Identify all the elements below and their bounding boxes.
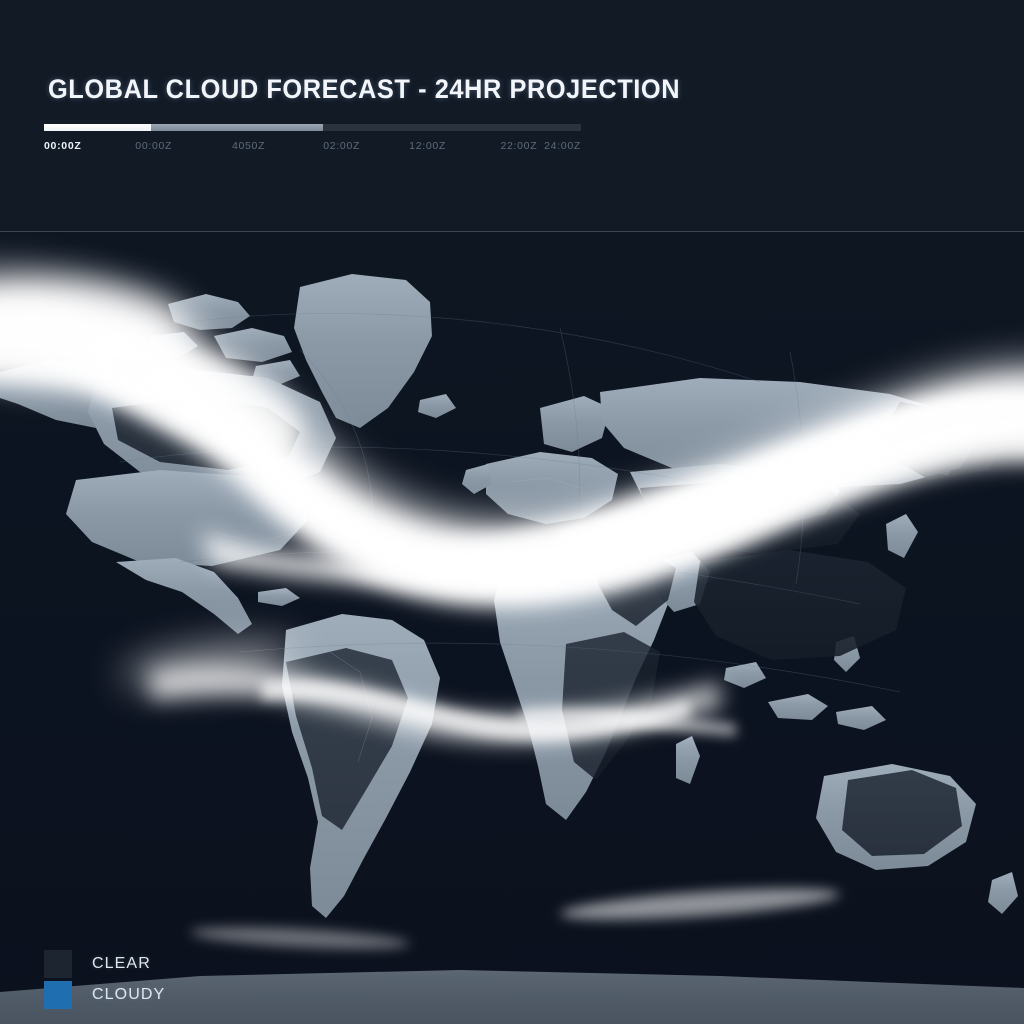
map-canvas [0, 232, 1024, 1024]
timeline-progress-bar[interactable] [44, 124, 581, 131]
timeline-tick-5[interactable]: 22:00Z [500, 140, 537, 152]
timeline-tick-3[interactable]: 02:00Z [323, 140, 360, 152]
legend-swatch-clear [44, 950, 72, 978]
timeline-tick-6[interactable]: 24:00Z [544, 140, 581, 152]
timeline-tick-1[interactable]: 00:00Z [135, 140, 172, 152]
legend-label-cloudy: CLOUDY [92, 986, 165, 1004]
timeline-tick-0[interactable]: 00:00Z [44, 140, 81, 152]
world-cloud-map[interactable]: CLEAR CLOUDY [0, 232, 1024, 1024]
header-bar: GLOBAL CLOUD FORECAST - 24HR PROJECTION … [0, 0, 1024, 231]
weather-forecast-app: GLOBAL CLOUD FORECAST - 24HR PROJECTION … [0, 0, 1024, 1024]
legend-item[interactable]: CLOUDY [44, 979, 165, 1010]
timeline-segment-near-term[interactable] [151, 124, 323, 131]
map-legend: CLEAR CLOUDY [44, 948, 165, 1010]
timeline-segment-elapsed[interactable] [44, 124, 151, 131]
legend-item[interactable]: CLEAR [44, 948, 165, 979]
page-title: GLOBAL CLOUD FORECAST - 24HR PROJECTION [48, 74, 680, 105]
timeline-segment-future[interactable] [323, 124, 581, 131]
timeline-tick-2[interactable]: 4050Z [232, 140, 265, 152]
legend-swatch-cloudy [44, 981, 72, 1009]
timeline-tick-4[interactable]: 12:00Z [409, 140, 446, 152]
legend-label-clear: CLEAR [92, 955, 151, 973]
timeline-control[interactable]: 00:00Z00:00Z4050Z02:00Z12:00Z22:00Z24:00… [44, 124, 581, 160]
timeline-tick-labels: 00:00Z00:00Z4050Z02:00Z12:00Z22:00Z24:00… [44, 140, 581, 160]
